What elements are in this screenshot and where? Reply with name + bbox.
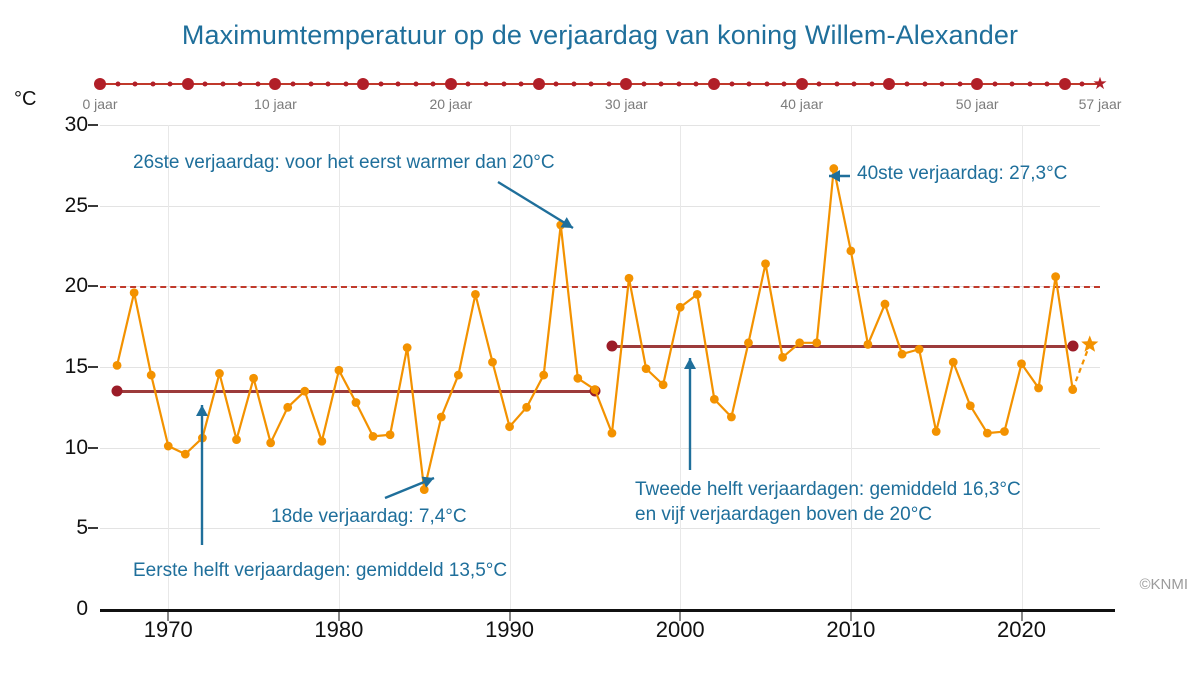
- data-point: [812, 338, 821, 347]
- data-point: [335, 366, 344, 375]
- data-point: [113, 361, 122, 370]
- data-point: [710, 395, 719, 404]
- data-point: [181, 450, 190, 459]
- data-point: [232, 435, 241, 444]
- data-point: [625, 274, 634, 283]
- data-point: [778, 353, 787, 362]
- chart-canvas: Maximumtemperatuur op de verjaardag van …: [0, 0, 1200, 675]
- data-point: [693, 290, 702, 299]
- data-point: [283, 403, 292, 412]
- data-point: [983, 429, 992, 438]
- data-point: [915, 345, 924, 354]
- data-point: [795, 338, 804, 347]
- data-point: [1051, 272, 1060, 281]
- data-point: [1034, 384, 1043, 393]
- annotation-arrow: [498, 182, 573, 228]
- data-point: [864, 340, 873, 349]
- data-point: [573, 374, 582, 383]
- data-point: [676, 303, 685, 312]
- data-point: [1068, 385, 1077, 394]
- data-point: [471, 290, 480, 299]
- data-point: [881, 300, 890, 309]
- forecast-star-marker: [1081, 335, 1098, 351]
- data-point: [1000, 427, 1009, 436]
- data-point: [761, 259, 770, 268]
- data-point: [386, 430, 395, 439]
- data-point: [846, 246, 855, 255]
- annotation-18th-birthday: 18de verjaardag: 7,4°C: [271, 505, 467, 529]
- annotation-arrowhead: [196, 405, 208, 416]
- data-point: [403, 343, 412, 352]
- annotation-26th-birthday: 26ste verjaardag: voor het eerst warmer …: [133, 151, 555, 175]
- data-point: [539, 371, 548, 380]
- data-point: [249, 374, 258, 383]
- data-point: [147, 371, 156, 380]
- data-point: [1017, 359, 1026, 368]
- data-point: [488, 358, 497, 367]
- data-point: [949, 358, 958, 367]
- annotation-40th-birthday: 40ste verjaardag: 27,3°C: [857, 162, 1067, 186]
- data-point: [420, 485, 429, 494]
- data-point: [608, 429, 617, 438]
- data-point: [898, 350, 907, 359]
- annotation-arrowhead: [684, 358, 696, 369]
- data-point: [642, 364, 651, 373]
- data-point: [932, 427, 941, 436]
- data-point: [659, 380, 668, 389]
- data-point: [352, 398, 361, 407]
- data-point: [454, 371, 463, 380]
- data-point: [300, 387, 309, 396]
- data-point: [437, 413, 446, 422]
- data-point: [164, 442, 173, 451]
- data-point: [829, 164, 838, 173]
- annotation-first-half-mean: Eerste helft verjaardagen: gemiddeld 13,…: [133, 559, 507, 583]
- data-point: [590, 385, 599, 394]
- data-point: [215, 369, 224, 378]
- data-point: [130, 288, 139, 297]
- data-point: [522, 403, 531, 412]
- annotation-second-half-mean-line2: en vijf verjaardagen boven de 20°C: [635, 503, 932, 527]
- data-point: [369, 432, 378, 441]
- data-point: [966, 401, 975, 410]
- copyright-label: ©KNMI: [1139, 576, 1188, 593]
- forecast-connector: [1073, 344, 1090, 389]
- annotation-second-half-mean-line1: Tweede helft verjaardagen: gemiddeld 16,…: [635, 478, 1021, 502]
- data-point: [744, 338, 753, 347]
- data-point: [266, 438, 275, 447]
- data-point: [727, 413, 736, 422]
- data-point: [317, 437, 326, 446]
- data-point: [505, 422, 514, 431]
